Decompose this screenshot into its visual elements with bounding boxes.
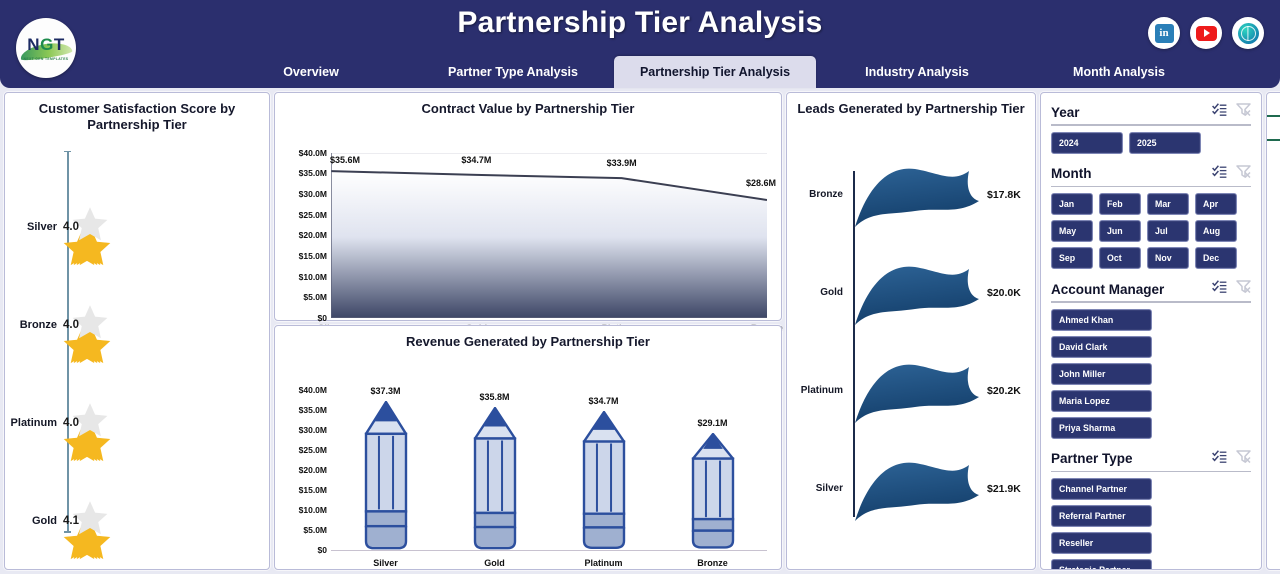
- x-axis-tick: Gold: [484, 558, 505, 568]
- leads-panel: Leads Generated by Partnership Tier Bron…: [786, 92, 1036, 570]
- data-label: $37.3M: [370, 386, 400, 396]
- csat-category-label: Silver: [5, 221, 63, 233]
- slicer-option-month[interactable]: Mar: [1147, 193, 1189, 215]
- contract-y-axis: $0$5.0M$10.0M$15.0M$20.0M$25.0M$30.0M$35…: [275, 119, 331, 342]
- csat-row: Bronze4.0: [5, 303, 269, 347]
- leads-chart: Bronze$17.8KGold$20.0KPlatinum$20.2KSilv…: [787, 123, 1035, 533]
- csat-row: Platinum4.0: [5, 401, 269, 445]
- tab-partnership-tier-analysis[interactable]: Partnership Tier Analysis: [614, 56, 816, 88]
- leads-value: $21.9K: [987, 483, 1021, 495]
- y-axis-tick: $5.0M: [303, 292, 327, 302]
- y-axis-tick: $10.0M: [299, 505, 327, 515]
- multi-select-icon: [1212, 103, 1227, 116]
- contract-plot-area: $35.6M$34.7M$33.9M$28.6MSilverGoldPlatin…: [331, 153, 767, 342]
- slicer-month: MonthJanFebMarAprMayJunJulAugSepOctNovDe…: [1051, 163, 1251, 270]
- youtube-icon[interactable]: [1190, 17, 1222, 49]
- revenue-baseline: [331, 550, 767, 551]
- revenue-panel: Revenue Generated by Partnership Tier $0…: [274, 325, 782, 570]
- slicer-year: Year20242025: [1051, 101, 1251, 154]
- slicer-option-month[interactable]: Feb: [1099, 193, 1141, 215]
- page-title: Partnership Tier Analysis: [0, 6, 1280, 40]
- data-label: $35.6M: [330, 155, 360, 165]
- star-rating: 4.0: [71, 221, 79, 233]
- filter-sidebar: Year20242025MonthJanFebMarAprMayJunJulAu…: [1040, 92, 1262, 570]
- pencil-bar: [473, 407, 517, 550]
- slicer-title-account-manager: Account Manager: [1051, 282, 1164, 297]
- pencil-bar: [691, 433, 735, 549]
- csat-value: 4.0: [63, 319, 79, 331]
- multi-select-icon: [1212, 165, 1227, 178]
- slicer-options-month: JanFebMarAprMayJunJulAugSepOctNovDec: [1051, 193, 1251, 269]
- dashboard-root: NGT NEXT GEN TEMPLATES Partnership Tier …: [0, 0, 1280, 574]
- slicer-title-partner-type: Partner Type: [1051, 451, 1133, 466]
- slicer-title-year: Year: [1051, 105, 1080, 120]
- slicer-options-account-manager: Ahmed KhanDavid ClarkJohn MillerMaria Lo…: [1051, 309, 1251, 439]
- leads-row: Gold$20.0K: [787, 250, 1035, 336]
- social-links: in: [1148, 17, 1264, 49]
- slicer-title-month: Month: [1051, 166, 1091, 181]
- slicer-option-month[interactable]: Jul: [1147, 220, 1189, 242]
- leads-category-label: Bronze: [787, 189, 849, 200]
- y-axis-tick: $40.0M: [299, 385, 327, 395]
- clear-filter-icon: [1236, 103, 1251, 116]
- revenue-y-axis: $0$5.0M$10.0M$15.0M$20.0M$25.0M$30.0M$35…: [275, 352, 331, 574]
- csat-category-label: Gold: [5, 515, 63, 527]
- slicer-options-partner-type: Channel PartnerReferral PartnerResellerS…: [1051, 478, 1251, 570]
- pencil-bar: [582, 411, 626, 550]
- slicer-option-partner-type[interactable]: Referral Partner: [1051, 505, 1152, 527]
- contract-title: Contract Value by Partnership Tier: [275, 93, 781, 119]
- leads-row: Platinum$20.2K: [787, 348, 1035, 434]
- y-axis-tick: $30.0M: [299, 189, 327, 199]
- csat-row: Gold4.1: [5, 499, 269, 543]
- data-label: $35.8M: [479, 392, 509, 402]
- x-axis-tick: Platinum: [584, 558, 622, 568]
- multi-select-icon: [1212, 450, 1227, 463]
- y-axis-tick: $15.0M: [299, 485, 327, 495]
- leads-category-label: Silver: [787, 483, 849, 494]
- data-label: $33.9M: [607, 158, 637, 168]
- clear-filter-icon[interactable]: [1236, 165, 1251, 183]
- y-axis-tick: $25.0M: [299, 210, 327, 220]
- flag-icon: [853, 247, 983, 338]
- slicer-option-month[interactable]: Dec: [1195, 247, 1237, 269]
- tab-industry-analysis[interactable]: Industry Analysis: [816, 56, 1018, 88]
- slicer-option-month[interactable]: Jan: [1051, 193, 1093, 215]
- leads-title: Leads Generated by Partnership Tier: [787, 93, 1035, 119]
- leads-value: $17.8K: [987, 189, 1021, 201]
- clear-filter-icon[interactable]: [1236, 280, 1251, 298]
- slicer-divider: [1051, 124, 1251, 126]
- linkedin-icon[interactable]: in: [1148, 17, 1180, 49]
- clear-filter-icon: [1236, 450, 1251, 463]
- slicer-option-month[interactable]: May: [1051, 220, 1093, 242]
- y-axis-tick: $5.0M: [303, 525, 327, 535]
- multi-select-icon[interactable]: [1212, 103, 1227, 121]
- x-axis-tick: Silver: [373, 558, 398, 568]
- y-axis-tick: $0: [318, 545, 327, 555]
- data-label: $34.7M: [588, 396, 618, 406]
- slicer-option-month[interactable]: Aug: [1195, 220, 1237, 242]
- slicer-divider: [1051, 301, 1251, 303]
- leads-row: Bronze$17.8K: [787, 152, 1035, 238]
- csat-title: Customer Satisfaction Score by Partnersh…: [5, 93, 269, 135]
- csat-chart: Silver4.0Bronze4.0Platinum4.0Gold4.1: [5, 141, 269, 541]
- slicer-option-month[interactable]: Apr: [1195, 193, 1237, 215]
- pencil-bar: [364, 401, 408, 550]
- csat-category-label: Platinum: [5, 417, 63, 429]
- slicer-option-month[interactable]: Oct: [1099, 247, 1141, 269]
- slicer-option-year[interactable]: 2025: [1129, 132, 1201, 154]
- logo-wordmark: NGT: [27, 36, 64, 53]
- csat-value: 4.0: [63, 221, 79, 233]
- slicer-option-account-manager[interactable]: Ahmed Khan: [1051, 309, 1152, 331]
- leads-value: $20.0K: [987, 287, 1021, 299]
- multi-select-icon: [1212, 280, 1227, 293]
- revenue-chart: $0$5.0M$10.0M$15.0M$20.0M$25.0M$30.0M$35…: [275, 352, 781, 569]
- csat-value: 4.0: [63, 417, 79, 429]
- website-icon[interactable]: [1232, 17, 1264, 49]
- clear-filter-icon[interactable]: [1236, 103, 1251, 121]
- leads-value: $20.2K: [987, 385, 1021, 397]
- multi-select-icon[interactable]: [1212, 450, 1227, 468]
- flag-icon: [853, 443, 983, 534]
- data-label: $28.6M: [746, 178, 776, 188]
- contract-chart: $0$5.0M$10.0M$15.0M$20.0M$25.0M$30.0M$35…: [275, 119, 781, 320]
- star-rating: 4.0: [71, 319, 79, 331]
- clear-filter-icon: [1236, 280, 1251, 293]
- slicer-options-year: 20242025: [1051, 132, 1251, 154]
- flag-icon: [853, 345, 983, 436]
- slicer-option-month[interactable]: Sep: [1051, 247, 1093, 269]
- contract-area-series: [331, 153, 767, 318]
- multi-select-icon[interactable]: [1212, 280, 1227, 298]
- slicer-option-account-manager[interactable]: David Clark: [1051, 336, 1152, 358]
- contract-value-panel: Contract Value by Partnership Tier $0$5.…: [274, 92, 782, 321]
- multi-select-icon[interactable]: [1212, 165, 1227, 183]
- slicer-account-manager: Account ManagerAhmed KhanDavid ClarkJohn…: [1051, 278, 1251, 439]
- y-axis-tick: $30.0M: [299, 425, 327, 435]
- logo-tagline: NEXT GEN TEMPLATES: [24, 57, 69, 61]
- slicer-option-account-manager[interactable]: John Miller: [1051, 363, 1152, 385]
- csat-category-label: Bronze: [5, 319, 63, 331]
- csat-row: Silver4.0: [5, 205, 269, 249]
- data-label: $29.1M: [697, 418, 727, 428]
- y-axis-tick: $20.0M: [299, 230, 327, 240]
- star-rating: 4.0: [71, 417, 79, 429]
- data-label: $34.7M: [461, 155, 491, 165]
- x-axis-tick: Bronze: [697, 558, 728, 568]
- slicer-option-account-manager[interactable]: Maria Lopez: [1051, 390, 1152, 412]
- clear-filter-icon: [1236, 165, 1251, 178]
- nav-tabs: Overview Partner Type Analysis Partnersh…: [210, 56, 1220, 88]
- slicer-divider: [1051, 471, 1251, 473]
- csat-value: 4.1: [63, 515, 79, 527]
- slicer-divider: [1051, 186, 1251, 188]
- star-rating: 4.1: [71, 515, 79, 527]
- slicer-option-partner-type[interactable]: Strategic Partner: [1051, 559, 1152, 570]
- revenue-title: Revenue Generated by Partnership Tier: [275, 326, 781, 352]
- slicer-partner-type: Partner TypeChannel PartnerReferral Part…: [1051, 448, 1251, 571]
- clear-filter-icon[interactable]: [1236, 450, 1251, 468]
- y-axis-tick: $25.0M: [299, 445, 327, 455]
- y-axis-tick: $20.0M: [299, 465, 327, 475]
- y-axis-tick: $15.0M: [299, 251, 327, 261]
- leads-category-label: Platinum: [787, 385, 849, 396]
- csat-panel: Customer Satisfaction Score by Partnersh…: [4, 92, 270, 570]
- y-axis-tick: $10.0M: [299, 272, 327, 282]
- revenue-plot-area: $37.3MSilver$35.8MGold$34.7MPlatinum$29.…: [331, 390, 767, 574]
- app-header: NGT NEXT GEN TEMPLATES Partnership Tier …: [0, 0, 1280, 88]
- leads-category-label: Gold: [787, 287, 849, 298]
- y-axis-tick: $0: [318, 313, 327, 323]
- slicer-option-account-manager[interactable]: Priya Sharma: [1051, 417, 1152, 439]
- tab-overview[interactable]: Overview: [210, 56, 412, 88]
- flag-icon: [853, 149, 983, 240]
- slicer-option-partner-type[interactable]: Reseller: [1051, 532, 1152, 554]
- y-axis-tick: $40.0M: [299, 148, 327, 158]
- y-axis-tick: $35.0M: [299, 168, 327, 178]
- leads-row: Silver$21.9K: [787, 446, 1035, 532]
- slicer-option-month[interactable]: Nov: [1147, 247, 1189, 269]
- slicer-option-partner-type[interactable]: Channel Partner: [1051, 478, 1152, 500]
- slicer-option-month[interactable]: Jun: [1099, 220, 1141, 242]
- slicer-option-year[interactable]: 2024: [1051, 132, 1123, 154]
- y-axis-tick: $35.0M: [299, 405, 327, 415]
- tab-month-analysis[interactable]: Month Analysis: [1018, 56, 1220, 88]
- tab-partner-type-analysis[interactable]: Partner Type Analysis: [412, 56, 614, 88]
- offscreen-panel-edge: [1266, 92, 1280, 570]
